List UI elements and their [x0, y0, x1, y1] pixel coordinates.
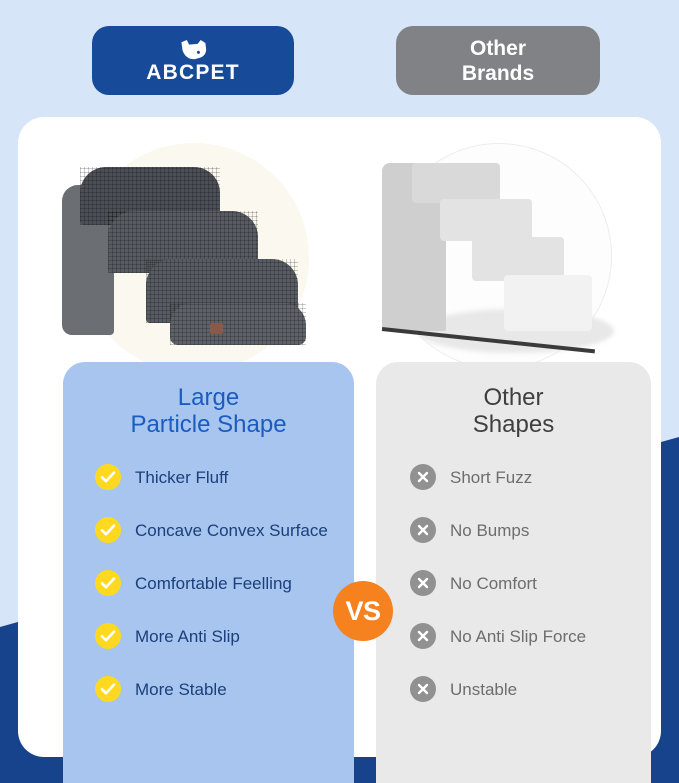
x-circle-icon: [410, 676, 436, 702]
product-image-other: [348, 133, 640, 379]
list-item: No Bumps: [376, 517, 651, 543]
list-item: Concave Convex Surface: [63, 517, 354, 543]
panel-title-right: Other Shapes: [376, 362, 651, 438]
feature-label: No Anti Slip Force: [450, 626, 586, 647]
x-circle-icon: [410, 623, 436, 649]
brand-wordmark: ABCPET: [146, 62, 240, 83]
list-item: No Comfort: [376, 570, 651, 596]
check-circle-icon: [95, 517, 121, 543]
other-brands-line-1: Other: [470, 36, 526, 61]
header-row: ABCPET Other Brands: [0, 26, 679, 96]
feature-label: No Bumps: [450, 520, 529, 541]
feature-label: More Stable: [135, 679, 227, 700]
feature-label: Unstable: [450, 679, 517, 700]
panel-title-right-line-1: Other: [483, 384, 543, 411]
light-pet-stairs-illustration: [376, 151, 606, 363]
list-item: No Anti Slip Force: [376, 623, 651, 649]
list-item: Comfortable Feelling: [63, 570, 354, 596]
vs-badge: VS: [333, 581, 393, 641]
feature-label: More Anti Slip: [135, 626, 240, 647]
feature-label: Comfortable Feelling: [135, 573, 292, 594]
dark-pet-stairs-illustration: [50, 151, 310, 366]
feature-label: Concave Convex Surface: [135, 520, 328, 541]
panel-title-right-line-2: Shapes: [473, 411, 554, 438]
panel-title-left-line-2: Particle Shape: [130, 411, 286, 438]
brand-pill: ABCPET: [92, 26, 294, 95]
list-item: Thicker Fluff: [63, 464, 354, 490]
other-brands-pill: Other Brands: [396, 26, 600, 95]
comparison-panel-other: Other Shapes Short Fuzz No Bumps: [376, 362, 651, 783]
panel-title-left: Large Particle Shape: [63, 362, 354, 438]
x-circle-icon: [410, 570, 436, 596]
list-item: More Stable: [63, 676, 354, 702]
check-circle-icon: [95, 676, 121, 702]
feature-list-other: Short Fuzz No Bumps No Comfort: [376, 438, 651, 702]
dog-head-icon: [176, 39, 210, 61]
feature-label: Short Fuzz: [450, 467, 532, 488]
x-circle-icon: [410, 517, 436, 543]
feature-label: No Comfort: [450, 573, 537, 594]
panel-title-left-line-1: Large: [178, 384, 239, 411]
x-circle-icon: [410, 464, 436, 490]
comparison-panel-brand: Large Particle Shape Thicker Fluff Conca…: [63, 362, 354, 783]
check-circle-icon: [95, 570, 121, 596]
comparison-infographic: ABCPET Other Brands: [0, 0, 679, 783]
check-circle-icon: [95, 623, 121, 649]
brand-tag-icon: [210, 323, 223, 334]
list-item: Unstable: [376, 676, 651, 702]
feature-label: Thicker Fluff: [135, 467, 228, 488]
check-circle-icon: [95, 464, 121, 490]
other-brands-line-2: Brands: [462, 61, 534, 86]
list-item: More Anti Slip: [63, 623, 354, 649]
feature-list-brand: Thicker Fluff Concave Convex Surface Com…: [63, 438, 354, 702]
content-card: Large Particle Shape Thicker Fluff Conca…: [18, 117, 661, 757]
product-image-brand: [36, 133, 328, 379]
list-item: Short Fuzz: [376, 464, 651, 490]
